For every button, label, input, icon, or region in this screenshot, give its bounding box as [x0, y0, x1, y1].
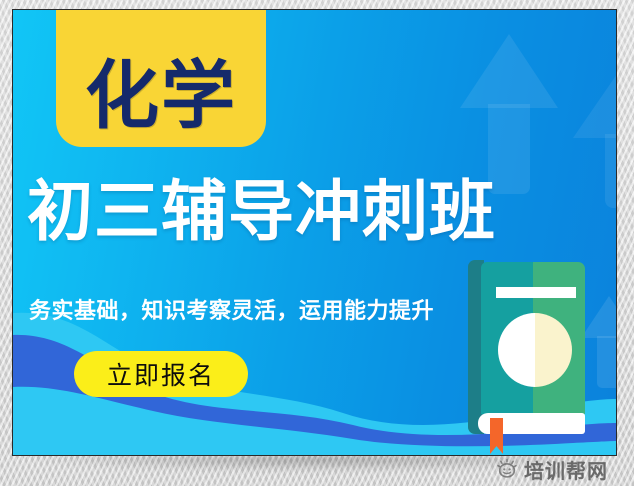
site-watermark: 培训帮网: [492, 455, 612, 483]
sun-smiley-icon: [496, 458, 518, 480]
subject-badge: 化学: [56, 9, 266, 147]
promo-banner[interactable]: 化学 初三辅导冲刺班 务实基础，知识考察灵活，运用能力提升 立即报名: [12, 9, 617, 456]
book-title-bar: [496, 287, 576, 298]
subject-badge-label: 化学: [85, 59, 237, 133]
banner-headline: 初三辅导冲刺班: [27, 176, 597, 247]
enroll-now-button-label: 立即报名: [107, 356, 215, 392]
banner-subtitle: 务实基础，知识考察灵活，运用能力提升: [29, 293, 434, 325]
page-background: 化学 初三辅导冲刺班 务实基础，知识考察灵活，运用能力提升 立即报名: [0, 0, 634, 486]
arrow-up-large-icon: [460, 34, 558, 194]
book-illustration: [468, 260, 585, 434]
site-watermark-label: 培训帮网: [524, 455, 608, 484]
enroll-now-button[interactable]: 立即报名: [74, 351, 248, 397]
